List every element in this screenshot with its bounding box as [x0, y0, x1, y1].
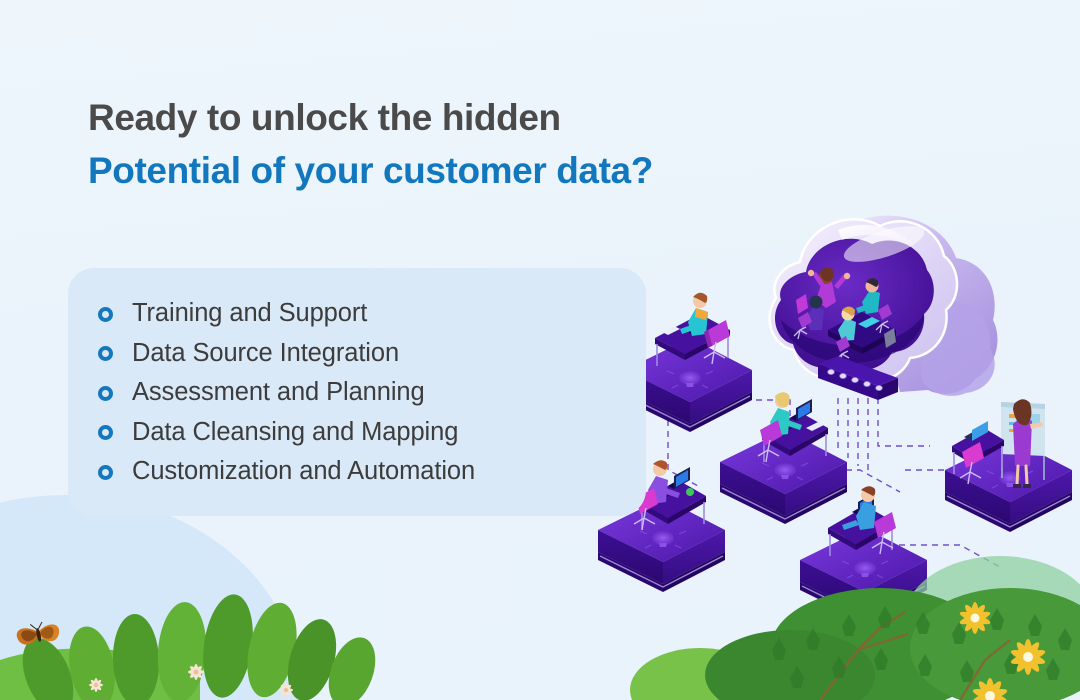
feature-label: Training and Support [132, 301, 367, 327]
bullet-ring-icon [98, 425, 113, 440]
feature-label: Data Source Integration [132, 341, 399, 367]
promo-banner: Ready to unlock the hidden Potential of … [0, 0, 1080, 700]
bullet-ring-icon [98, 386, 113, 401]
cloud-graphic [770, 216, 998, 400]
headline: Ready to unlock the hidden Potential of … [88, 92, 848, 197]
right-bush [630, 556, 1080, 700]
list-item: Customization and Automation [98, 452, 646, 492]
feature-list: Training and Support Data Source Integra… [98, 294, 646, 492]
bullet-ring-icon [98, 465, 113, 480]
list-item: Data Source Integration [98, 334, 646, 374]
list-item: Assessment and Planning [98, 373, 646, 413]
headline-line-2: Potential of your customer data? [88, 145, 848, 198]
person-worker [680, 293, 708, 336]
list-item: Training and Support [98, 294, 646, 334]
foliage-decoration [0, 500, 1080, 700]
bullet-ring-icon [98, 346, 113, 361]
list-item: Data Cleansing and Mapping [98, 413, 646, 453]
desk-plant [686, 488, 694, 496]
feature-label: Customization and Automation [132, 459, 475, 485]
feature-card: Training and Support Data Source Integra… [68, 268, 646, 516]
feature-label: Assessment and Planning [132, 380, 425, 406]
bullet-ring-icon [98, 307, 113, 322]
left-leaf-cluster [13, 591, 384, 700]
headline-line-1: Ready to unlock the hidden [88, 92, 848, 145]
feature-label: Data Cleansing and Mapping [132, 420, 458, 446]
